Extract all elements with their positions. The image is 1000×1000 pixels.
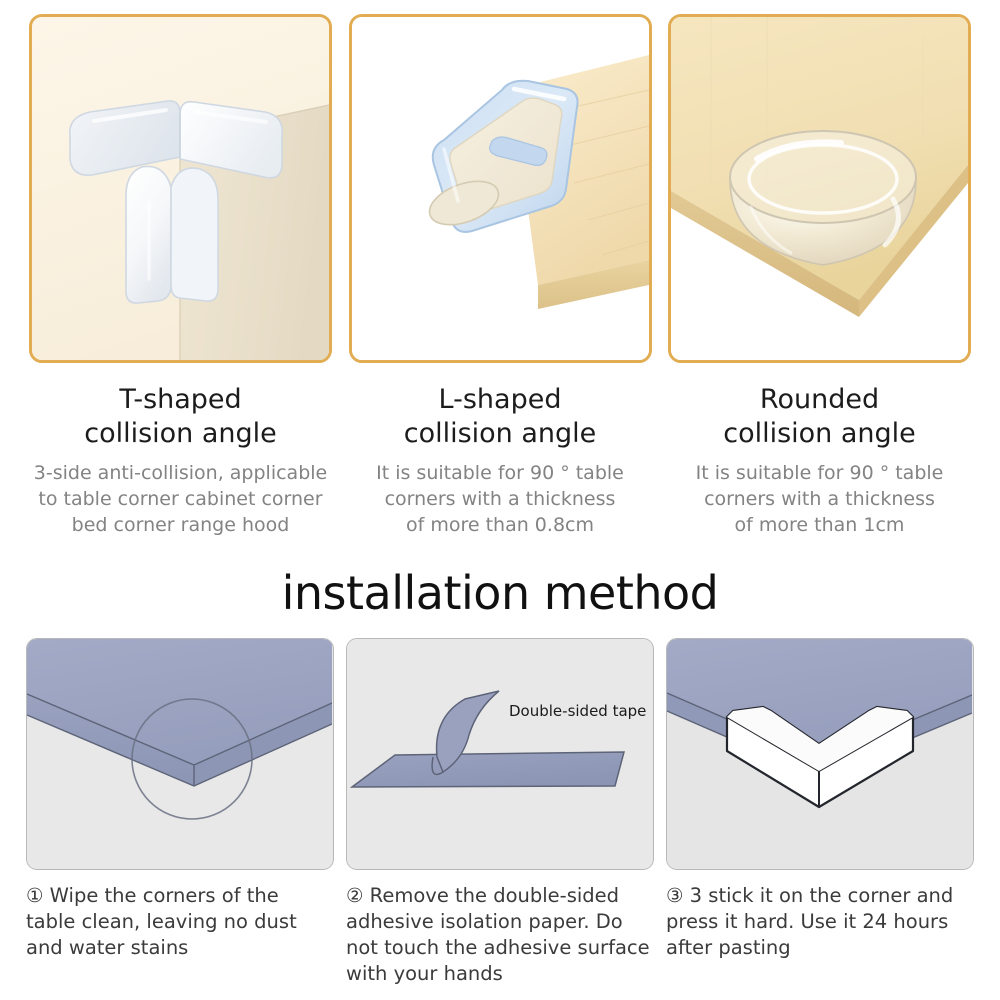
- product-infographic: T-shaped collision angle 3-side anti-col…: [0, 0, 1000, 1000]
- installation-steps-row: ① Wipe the corners of the table clean, l…: [0, 638, 1000, 987]
- product-title: L-shaped collision angle: [404, 383, 597, 451]
- product-variants-row: T-shaped collision angle 3-side anti-col…: [0, 0, 1000, 560]
- rounded-corner-guard-photo: [668, 14, 971, 363]
- product-card-rounded: Rounded collision angle It is suitable f…: [667, 0, 972, 560]
- double-sided-tape-label: Double-sided tape: [509, 702, 646, 720]
- product-description: It is suitable for 90 ° table corners wi…: [696, 460, 944, 538]
- product-title: Rounded collision angle: [723, 383, 916, 451]
- step-1-caption: ① Wipe the corners of the table clean, l…: [26, 883, 334, 961]
- product-description: 3-side anti-collision, applicable to tab…: [34, 460, 327, 538]
- install-step-2: Double-sided tape ② Remove the double-si…: [346, 638, 654, 987]
- installation-method-heading: installation method: [0, 565, 1000, 621]
- product-title: T-shaped collision angle: [84, 383, 277, 451]
- l-shaped-corner-guard-photo: [349, 14, 652, 363]
- step-3-caption: ③ 3 stick it on the corner and press it …: [666, 883, 974, 961]
- step-2-illustration: Double-sided tape: [346, 638, 654, 870]
- install-step-1: ① Wipe the corners of the table clean, l…: [26, 638, 334, 987]
- t-shaped-corner-guard-photo: [29, 14, 332, 363]
- step-2-caption: ② Remove the double-sided adhesive isola…: [346, 883, 654, 987]
- install-step-3: ③ 3 stick it on the corner and press it …: [666, 638, 974, 987]
- product-description: It is suitable for 90 ° table corners wi…: [376, 460, 624, 538]
- product-card-l-shaped: L-shaped collision angle It is suitable …: [348, 0, 653, 560]
- product-card-t-shaped: T-shaped collision angle 3-side anti-col…: [28, 0, 333, 560]
- step-3-illustration: [666, 638, 974, 870]
- step-1-illustration: [26, 638, 334, 870]
